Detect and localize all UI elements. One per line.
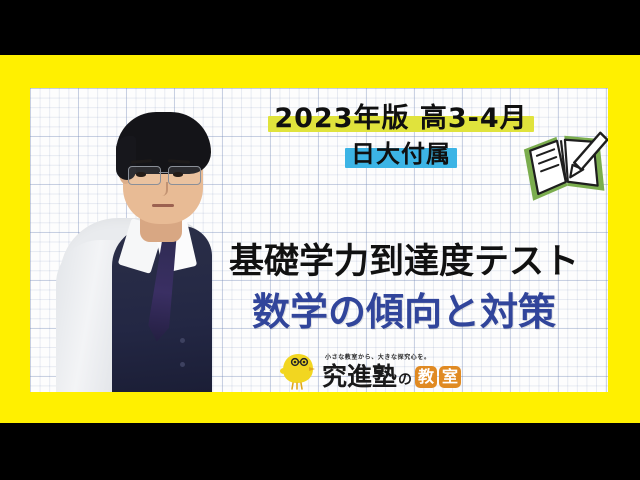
- logo-text-column: 小さな教室から、大きな探究心を。 究進塾 の 教 室: [322, 354, 461, 390]
- presenter-mouth: [152, 204, 174, 207]
- brand-logo: 小さな教室から、大きな探究心を。 究進塾 の 教 室: [278, 344, 510, 390]
- chick-mascot-icon: [278, 348, 318, 390]
- handwritten-line-1: 2023年版 高3-4月: [274, 104, 527, 134]
- presenter-eye-right: [173, 172, 183, 177]
- logo-wordmark: 究進塾 の 教 室: [322, 363, 461, 390]
- logo-tagline: 小さな教室から、大きな探究心を。: [325, 354, 431, 362]
- letterbox-top: [0, 0, 640, 55]
- handwritten-line-2-text: 日大付属: [351, 140, 451, 168]
- logo-particle: の: [398, 372, 412, 390]
- glasses-bridge: [159, 172, 168, 173]
- presenter-nose: [158, 182, 168, 196]
- logo-badge-kyo: 教: [415, 366, 437, 388]
- slide-background: 2023年版 高3-4月 日大付属: [0, 55, 640, 423]
- presenter-eye-left: [136, 172, 146, 177]
- grid-paper-card: 2023年版 高3-4月 日大付属: [30, 88, 608, 392]
- logo-main-text: 究進塾: [322, 363, 397, 390]
- notebook-pencil-icon: [511, 120, 608, 219]
- handwritten-line-1-text: 2023年版 高3-4月: [274, 103, 527, 134]
- vest-button-upper: [180, 338, 185, 343]
- main-title: 基礎学力到達度テスト: [180, 241, 608, 283]
- vest-button-lower: [180, 362, 185, 367]
- logo-badge-shitsu: 室: [439, 366, 461, 388]
- letterbox-bottom: [0, 423, 640, 480]
- video-frame: 2023年版 高3-4月 日大付属: [0, 0, 640, 480]
- handwritten-line-2: 日大付属: [351, 140, 451, 168]
- sub-title: 数学の傾向と対策: [180, 289, 608, 335]
